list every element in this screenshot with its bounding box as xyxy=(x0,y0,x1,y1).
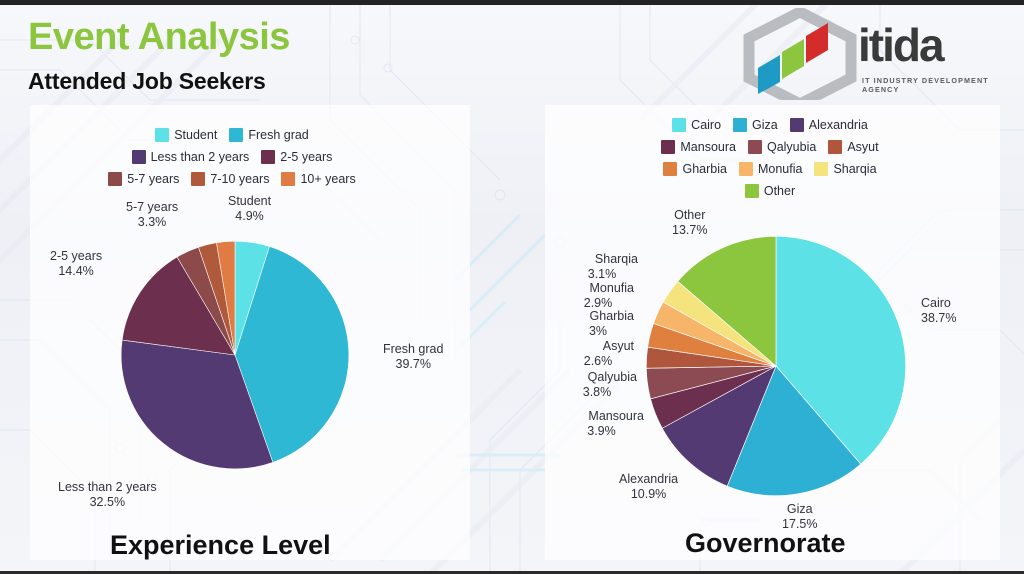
callout-name: Student xyxy=(228,194,271,208)
logo-tagline: IT INDUSTRY DEVELOPMENT AGENCY xyxy=(862,76,1010,94)
legend-label: 7-10 years xyxy=(210,172,269,186)
pie-chart-experience-level-svg xyxy=(120,240,350,470)
legend-item-gharbia[interactable]: Gharbia xyxy=(663,162,726,176)
callout-name: Other xyxy=(674,208,705,222)
callout-name: Less than 2 years xyxy=(58,480,157,494)
slide-canvas: Event Analysis Attended Job Seekers itid… xyxy=(0,0,1024,574)
legend-label: 10+ years xyxy=(300,172,355,186)
callout-other: Other 13.7% xyxy=(672,208,707,238)
callout-2-5-years: 2-5 years 14.4% xyxy=(50,249,102,279)
callout-name: Asyut xyxy=(603,339,634,353)
callout-name: Giza xyxy=(787,502,813,516)
callout-5-7-years: 5-7 years 3.3% xyxy=(126,200,178,230)
callout-value: 39.7% xyxy=(383,357,443,372)
legend-swatch-icon xyxy=(281,172,295,186)
logo-wordmark: itida xyxy=(858,22,943,68)
top-frame-bar xyxy=(0,0,1024,5)
legend-label: Less than 2 years xyxy=(151,150,250,164)
callout-asyut: Asyut 2.6% xyxy=(562,339,634,369)
callout-name: Qalyubia xyxy=(588,370,637,384)
chart-title-experience-level: Experience Level xyxy=(110,530,331,561)
callout-alexandria: Alexandria 10.9% xyxy=(619,472,678,502)
callout-name: Cairo xyxy=(921,296,951,310)
legend-label: Gharbia xyxy=(682,162,726,176)
page-subtitle: Attended Job Seekers xyxy=(28,68,266,95)
callout-name: Sharqia xyxy=(595,252,638,266)
legend-item-monufia[interactable]: Monufia xyxy=(739,162,802,176)
legend-swatch-icon xyxy=(814,162,828,176)
itida-logo-mark xyxy=(740,8,860,100)
legend-label: Other xyxy=(764,184,795,198)
callout-value: 10.9% xyxy=(619,487,678,502)
callout-value: 3.9% xyxy=(559,424,644,439)
callout-value: 14.4% xyxy=(50,264,102,279)
callout-cairo: Cairo 38.7% xyxy=(921,296,956,326)
callout-gharbia: Gharbia 3% xyxy=(562,309,634,339)
legend-swatch-icon xyxy=(155,128,169,142)
chart-title-governorate: Governorate xyxy=(685,528,846,559)
callout-name: Gharbia xyxy=(590,309,634,323)
legend-item-qalyubia[interactable]: Qalyubia xyxy=(748,140,816,154)
legend-label: Giza xyxy=(752,118,778,132)
legend-label: Cairo xyxy=(691,118,721,132)
legend-item-less-than-2-years[interactable]: Less than 2 years xyxy=(132,150,250,164)
legend-item-mansoura[interactable]: Mansoura xyxy=(661,140,736,154)
legend-label: Alexandria xyxy=(809,118,868,132)
callout-less-than-2-years: Less than 2 years 32.5% xyxy=(58,480,157,510)
pie-chart-governorate[interactable] xyxy=(645,235,907,497)
legend-item-asyut[interactable]: Asyut xyxy=(828,140,878,154)
callout-value: 3.8% xyxy=(557,385,637,400)
legend-swatch-icon xyxy=(790,118,804,132)
callout-fresh-grad: Fresh grad 39.7% xyxy=(383,342,443,372)
callout-name: Mansoura xyxy=(588,409,644,423)
callout-name: 5-7 years xyxy=(126,200,178,214)
callout-name: Fresh grad xyxy=(383,342,443,356)
callout-value: 3.3% xyxy=(126,215,178,230)
legend-swatch-icon xyxy=(745,184,759,198)
legend-swatch-icon xyxy=(108,172,122,186)
legend-item-other[interactable]: Other xyxy=(745,184,795,198)
legend-swatch-icon xyxy=(661,140,675,154)
legend-label: 2-5 years xyxy=(280,150,332,164)
legend-swatch-icon xyxy=(191,172,205,186)
legend-swatch-icon xyxy=(229,128,243,142)
callout-name: 2-5 years xyxy=(50,249,102,263)
legend-label: 5-7 years xyxy=(127,172,179,186)
legend-governorate: Cairo Giza Alexandria Mansoura Qalyubia … xyxy=(600,118,940,198)
callout-value: 13.7% xyxy=(672,223,707,238)
legend-swatch-icon xyxy=(733,118,747,132)
legend-item-fresh-grad[interactable]: Fresh grad xyxy=(229,128,308,142)
callout-value: 3% xyxy=(562,324,634,339)
pie-chart-experience-level[interactable] xyxy=(120,240,350,470)
callout-value: 2.9% xyxy=(562,296,634,311)
legend-item-5-7-years[interactable]: 5-7 years xyxy=(108,172,179,186)
chevron-red-icon xyxy=(806,23,828,63)
legend-swatch-icon xyxy=(663,162,677,176)
legend-label: Asyut xyxy=(847,140,878,154)
legend-swatch-icon xyxy=(261,150,275,164)
page-title: Event Analysis xyxy=(28,16,290,59)
callout-name: Alexandria xyxy=(619,472,678,486)
callout-value: 32.5% xyxy=(58,495,157,510)
chevron-green-icon xyxy=(782,39,804,79)
legend-item-2-5-years[interactable]: 2-5 years xyxy=(261,150,332,164)
callout-sharqia: Sharqia 3.1% xyxy=(566,252,638,282)
callout-value: 38.7% xyxy=(921,311,956,326)
callout-value: 3.1% xyxy=(566,267,638,282)
legend-swatch-icon xyxy=(828,140,842,154)
legend-experience-level: Student Fresh grad Less than 2 years 2-5… xyxy=(42,128,422,186)
legend-label: Student xyxy=(174,128,217,142)
pie-chart-governorate-svg xyxy=(645,235,907,497)
legend-label: Fresh grad xyxy=(248,128,308,142)
legend-label: Mansoura xyxy=(680,140,736,154)
legend-item-cairo[interactable]: Cairo xyxy=(672,118,721,132)
slide-header: Event Analysis Attended Job Seekers itid… xyxy=(0,0,1024,105)
callout-student: Student 4.9% xyxy=(228,194,271,224)
legend-item-sharqia[interactable]: Sharqia xyxy=(814,162,876,176)
legend-label: Sharqia xyxy=(833,162,876,176)
legend-label: Qalyubia xyxy=(767,140,816,154)
callout-mansoura: Mansoura 3.9% xyxy=(559,409,644,439)
legend-swatch-icon xyxy=(672,118,686,132)
callout-qalyubia: Qalyubia 3.8% xyxy=(557,370,637,400)
callout-value: 2.6% xyxy=(562,354,634,369)
legend-swatch-icon xyxy=(748,140,762,154)
legend-item-giza[interactable]: Giza xyxy=(733,118,778,132)
legend-swatch-icon xyxy=(739,162,753,176)
callout-value: 4.9% xyxy=(228,209,271,224)
callout-monufia: Monufia 2.9% xyxy=(562,281,634,311)
legend-item-alexandria[interactable]: Alexandria xyxy=(790,118,868,132)
legend-swatch-icon xyxy=(132,150,146,164)
legend-item-10-plus-years[interactable]: 10+ years xyxy=(281,172,355,186)
legend-label: Monufia xyxy=(758,162,802,176)
itida-logo: itida IT INDUSTRY DEVELOPMENT AGENCY xyxy=(740,8,1010,103)
legend-item-7-10-years[interactable]: 7-10 years xyxy=(191,172,269,186)
callout-name: Monufia xyxy=(590,281,634,295)
legend-item-student[interactable]: Student xyxy=(155,128,217,142)
